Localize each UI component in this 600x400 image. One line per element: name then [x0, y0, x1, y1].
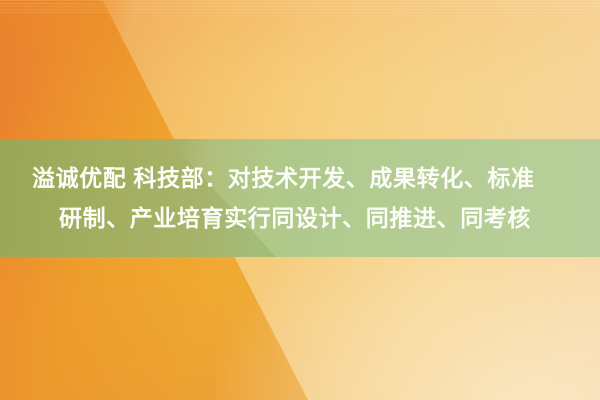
headline-line-2: 研制、产业培育实行同设计、同推进、同考核 — [30, 198, 574, 238]
headline-line-1: 溢诚优配 科技部：对技术开发、成果转化、标准 — [30, 158, 574, 198]
headline-text-block: 溢诚优配 科技部：对技术开发、成果转化、标准 研制、产业培育实行同设计、同推进、… — [0, 139, 600, 257]
news-banner-image: 溢诚优配 科技部：对技术开发、成果转化、标准 研制、产业培育实行同设计、同推进、… — [0, 0, 600, 400]
background-top-scanlines — [0, 0, 600, 14]
